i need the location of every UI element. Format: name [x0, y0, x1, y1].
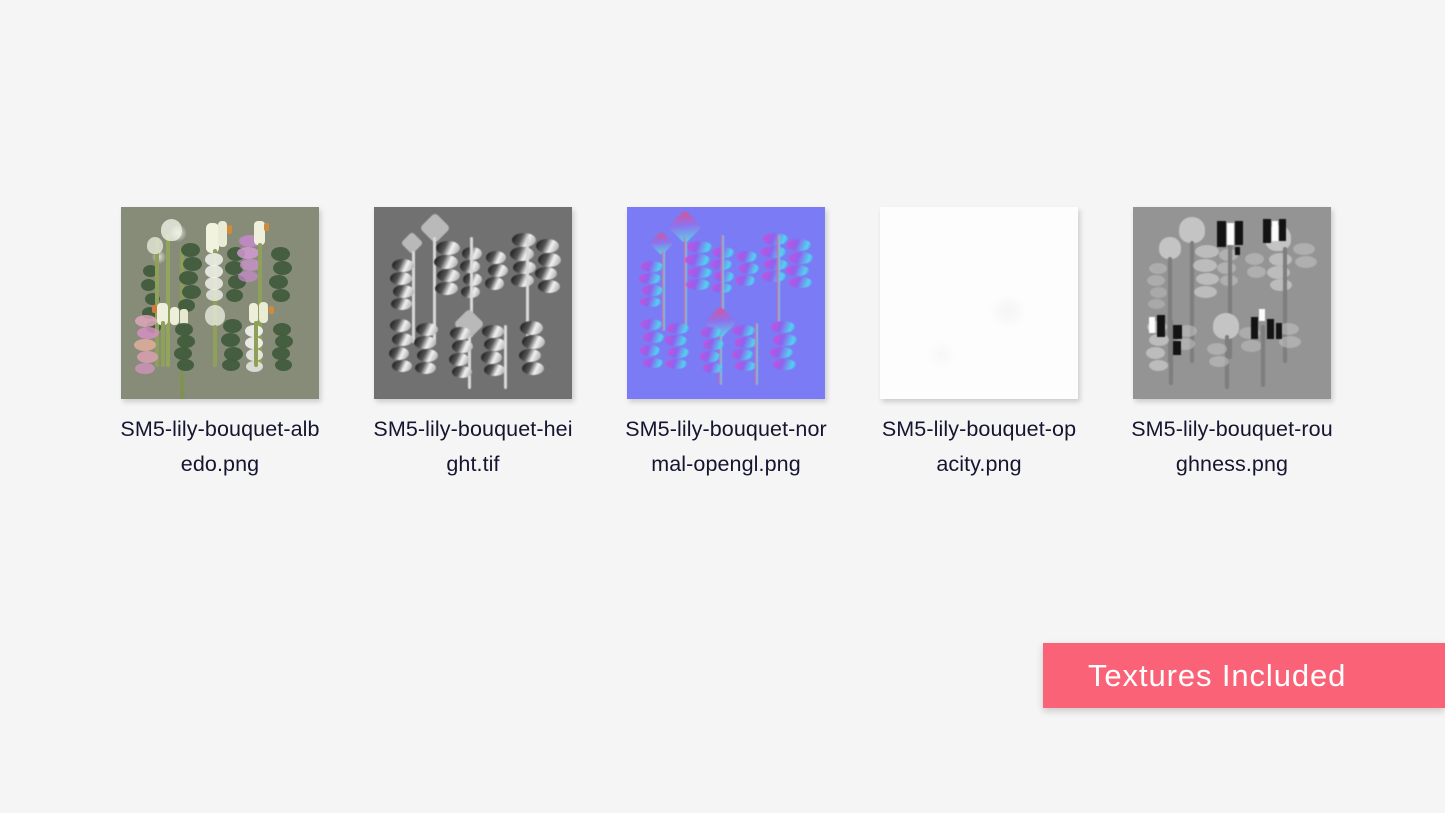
texture-filename-height: SM5-lily-bouquet-height.tif: [371, 412, 576, 482]
badge-label: Textures Included: [1088, 658, 1346, 694]
normal-map-thumbnail[interactable]: [627, 207, 825, 399]
texture-filename-normal: SM5-lily-bouquet-normal-opengl.png: [624, 412, 829, 482]
albedo-flowers: [121, 207, 319, 399]
roughness-thumbnail[interactable]: [1133, 207, 1331, 399]
roughness-detail-layer: [1133, 207, 1331, 399]
texture-preview-page: SM5-lily-bouquet-albedo.png: [0, 0, 1445, 813]
albedo-thumbnail[interactable]: [121, 207, 319, 399]
texture-filename-albedo: SM5-lily-bouquet-albedo.png: [118, 412, 323, 482]
textures-included-badge: Textures Included: [1043, 643, 1445, 708]
texture-card-albedo[interactable]: SM5-lily-bouquet-albedo.png: [121, 207, 319, 482]
texture-card-roughness[interactable]: SM5-lily-bouquet-roughness.png: [1133, 207, 1331, 482]
texture-card-height[interactable]: SM5-lily-bouquet-height.tif: [374, 207, 572, 482]
height-detail-layer: [374, 207, 572, 399]
normal-detail-layer: [627, 207, 825, 399]
texture-thumbnail-grid: SM5-lily-bouquet-albedo.png: [121, 207, 1331, 482]
texture-card-normal[interactable]: SM5-lily-bouquet-normal-opengl.png: [627, 207, 825, 482]
opacity-detail-layer: [880, 207, 1078, 399]
texture-card-opacity[interactable]: SM5-lily-bouquet-opacity.png: [880, 207, 1078, 482]
texture-filename-opacity: SM5-lily-bouquet-opacity.png: [877, 412, 1082, 482]
opacity-thumbnail[interactable]: [880, 207, 1078, 399]
height-thumbnail[interactable]: [374, 207, 572, 399]
texture-filename-roughness: SM5-lily-bouquet-roughness.png: [1130, 412, 1335, 482]
